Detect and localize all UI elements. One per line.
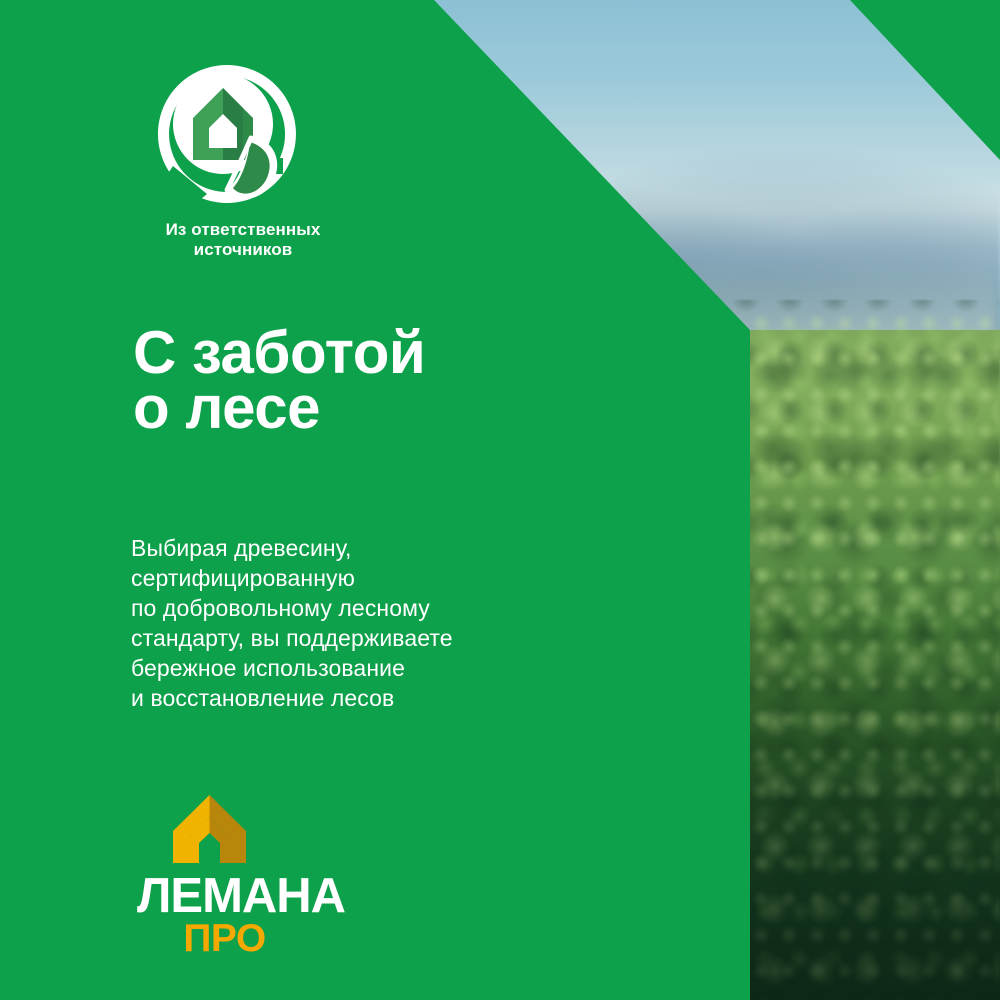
- certification-caption-line2: источников: [133, 240, 353, 260]
- brand-sub: ПРО: [137, 919, 312, 959]
- poster-content: Из ответственных источников С заботой о …: [0, 0, 1000, 1000]
- body-paragraph: Выбирая древесину, сертифицированную по …: [131, 533, 453, 713]
- body-line-3: по добровольному лесному: [131, 593, 453, 623]
- body-line-4: стандарту, вы поддерживаете: [131, 623, 453, 653]
- body-line-6: и восстановление лесов: [131, 683, 453, 713]
- certification-caption-line1: Из ответственных: [133, 220, 353, 240]
- house-leaf-circle-icon: [155, 62, 299, 206]
- brand-name: ЛЕМАНА: [137, 871, 312, 921]
- house-outline-icon: [167, 793, 252, 865]
- body-line-2: сертифицированную: [131, 563, 453, 593]
- body-line-5: бережное использование: [131, 653, 453, 683]
- certification-badge: Из ответственных источников: [133, 62, 353, 260]
- headline-line1: С заботой: [133, 325, 425, 380]
- body-line-1: Выбирая древесину,: [131, 533, 453, 563]
- brand-logo: ЛЕМАНА ПРО: [137, 793, 312, 959]
- poster-root: Из ответственных источников С заботой о …: [0, 0, 1000, 1000]
- page-title: С заботой о лесе: [133, 325, 425, 435]
- headline-line2: о лесе: [133, 380, 425, 435]
- certification-caption: Из ответственных источников: [133, 220, 353, 260]
